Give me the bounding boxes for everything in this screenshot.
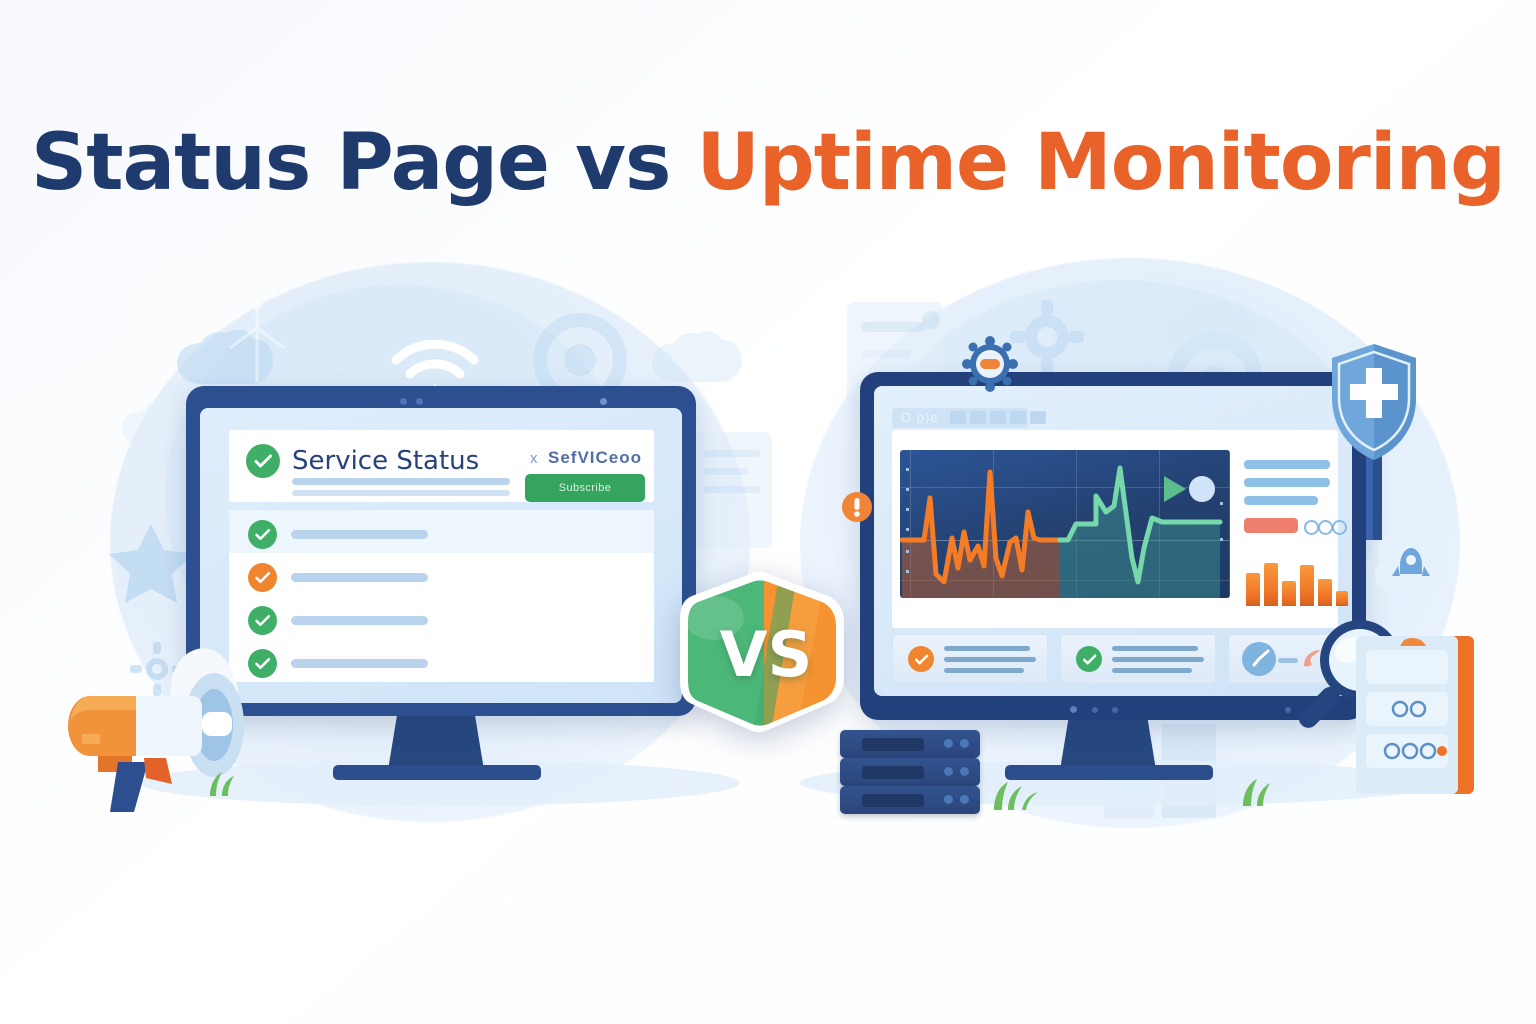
info-card-line <box>944 657 1036 662</box>
row-label-bar <box>291 616 428 625</box>
monitor-stand-base <box>1005 765 1213 780</box>
monitor-power-dot <box>600 398 607 405</box>
cloud-icon <box>650 330 760 388</box>
monitor-camera-dot <box>1070 706 1077 713</box>
subscribe-button[interactable]: Subscribe <box>525 474 645 502</box>
row-label-bar <box>291 573 428 582</box>
row-check-icon <box>248 563 277 592</box>
monitor-led-dot <box>1112 707 1118 713</box>
info-card-line <box>1112 668 1192 673</box>
network-icon <box>222 300 292 386</box>
monitor-screen: O p)e <box>874 386 1352 696</box>
bar-chart-bar <box>1336 591 1348 606</box>
header-placeholder-bar <box>292 490 510 496</box>
brand-prefix-label: x <box>530 450 539 467</box>
bar-chart-bar <box>1264 563 1278 606</box>
server-rack-card <box>1352 630 1482 800</box>
gear-icon <box>962 336 1018 392</box>
illustration-canvas: Status Page vs Uptime Monitoring <box>0 0 1536 1024</box>
grass-decoration <box>988 780 1042 815</box>
bar-chart-bar <box>1300 565 1314 606</box>
server-unit <box>840 730 980 758</box>
row-check-icon <box>248 520 277 549</box>
bar-chart-bar <box>1246 573 1260 606</box>
bar-chart-bar <box>1318 579 1332 606</box>
shield-check-icon <box>1324 340 1424 540</box>
bar-chart-bar <box>1282 581 1296 606</box>
title-part-accent: Uptime Monitoring <box>697 118 1505 208</box>
sidebar-line <box>1244 478 1330 487</box>
title-part-primary: Status Page vs <box>31 118 697 208</box>
header-placeholder-bar <box>292 478 510 485</box>
rocket-icon <box>1372 530 1450 600</box>
sidebar-highlight-pill <box>1244 518 1298 533</box>
monitor-led-dot <box>1092 707 1098 713</box>
info-card-line <box>1112 657 1204 662</box>
cloud-icon <box>1160 300 1280 360</box>
monitor-camera-dot <box>400 398 407 405</box>
gear-icon <box>1010 300 1084 374</box>
status-header-check-icon <box>246 444 280 478</box>
monitor-led-dot <box>416 398 423 405</box>
info-card-line <box>944 646 1030 651</box>
megaphone-icon <box>62 630 322 820</box>
grass-decoration <box>205 770 251 801</box>
server-unit <box>840 758 980 786</box>
info-card-line <box>944 668 1024 673</box>
sidebar-line <box>1244 496 1318 505</box>
server-unit <box>840 786 980 814</box>
list-card-icon <box>690 430 774 550</box>
address-bar-text: O p)e <box>901 410 939 425</box>
sidebar-ring-icon <box>1304 520 1319 535</box>
service-status-heading: Service Status <box>292 446 479 476</box>
grass-decoration <box>1238 776 1288 811</box>
sidebar-line <box>1244 460 1330 469</box>
address-bar-blocks <box>950 411 1046 424</box>
info-card-check-icon <box>1076 646 1102 672</box>
response-time-chart <box>900 450 1230 598</box>
row-label-bar <box>291 530 428 539</box>
alert-badge-icon <box>840 490 874 524</box>
page-title: Status Page vs Uptime Monitoring <box>0 118 1536 208</box>
vs-badge: VS <box>680 570 856 743</box>
svg-text:VS: VS <box>720 618 813 691</box>
brand-label: SefVICeᴏᴏ <box>548 448 642 468</box>
info-card-line <box>1112 646 1198 651</box>
star-icon <box>105 520 197 612</box>
gauge-icon <box>1240 640 1278 678</box>
monitor-stand-base <box>333 765 541 780</box>
info-card-check-icon <box>908 646 934 672</box>
